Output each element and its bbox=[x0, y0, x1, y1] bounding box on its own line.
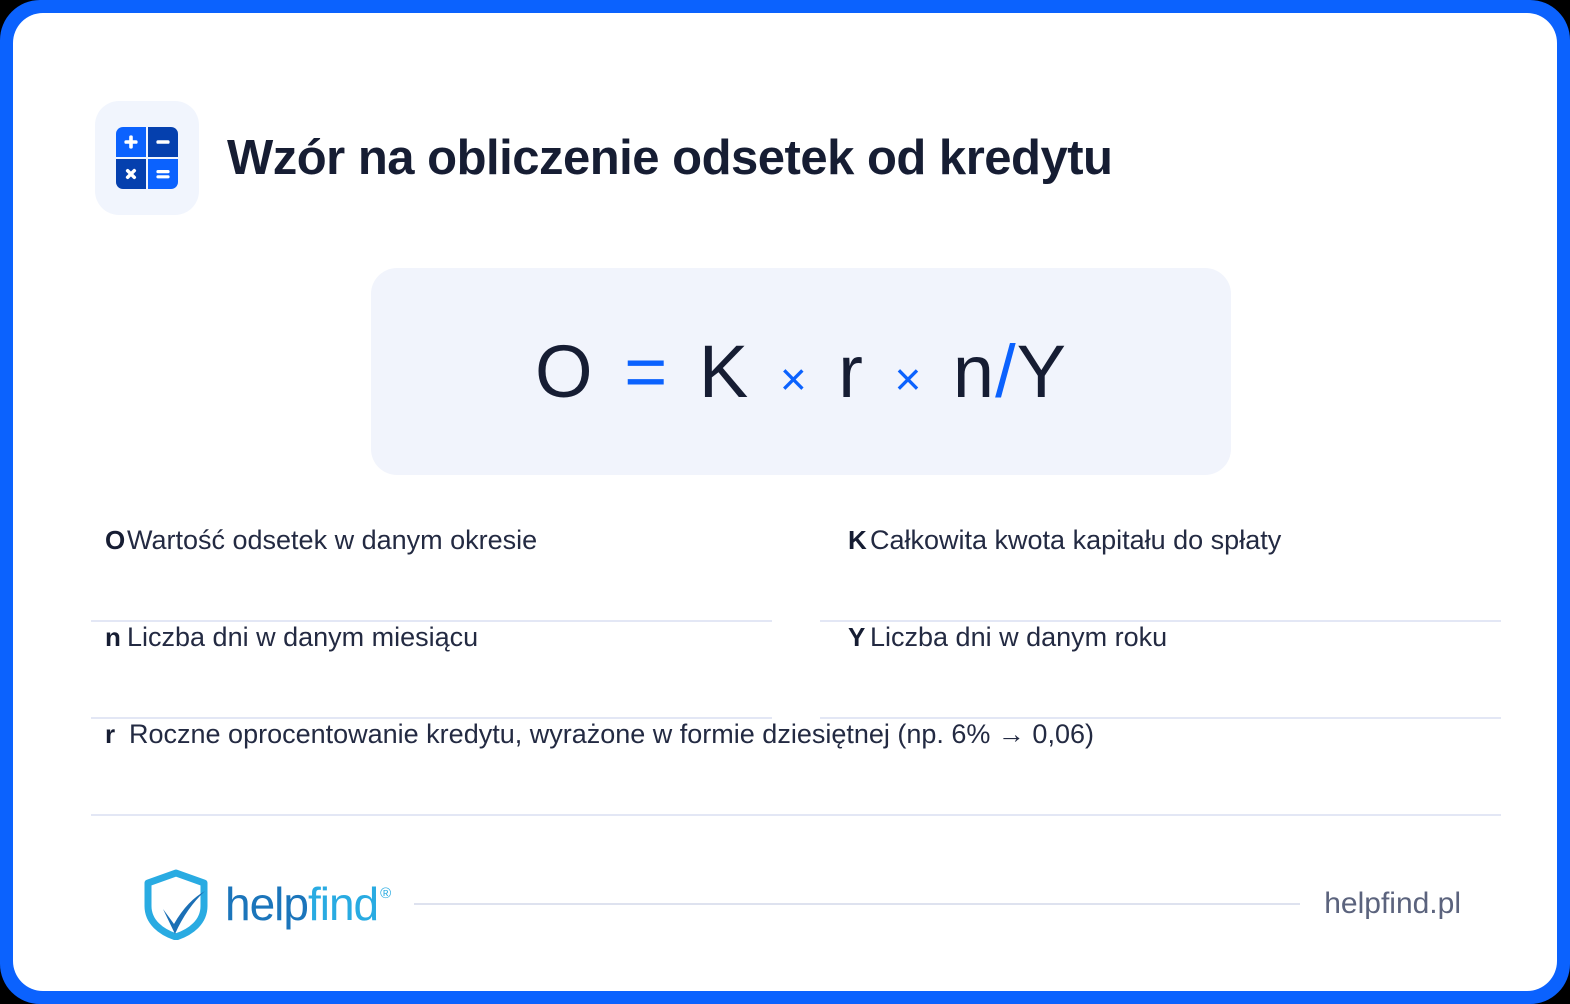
legend-symbol: Y bbox=[820, 622, 870, 653]
page-title: Wzór na obliczenie odsetek od kredytu bbox=[227, 134, 1112, 183]
legend-symbol: r bbox=[91, 719, 127, 750]
website-url: helpfind.pl bbox=[1324, 887, 1461, 921]
legend-row-O: O Wartość odsetek w danym okresie bbox=[91, 525, 772, 622]
formula-operator-equals: = bbox=[624, 330, 668, 413]
formula-panel: O = K × r × n/Y bbox=[371, 268, 1231, 475]
legend-row-r: r Roczne oprocentowanie kredytu, wyrażon… bbox=[91, 719, 1501, 816]
formula-variable-n: n bbox=[953, 330, 995, 413]
legend-symbol: K bbox=[820, 525, 870, 556]
formula-variable-K: K bbox=[699, 330, 749, 413]
formula-operator-divide: / bbox=[995, 330, 1017, 413]
legend-row-n: n Liczba dni w danym miesiącu bbox=[91, 622, 772, 719]
legend-row-K: K Całkowita kwota kapitału do spłaty bbox=[820, 525, 1501, 622]
legend-description: Roczne oprocentowanie kredytu, wyrażone … bbox=[127, 719, 1094, 750]
legend-description: Całkowita kwota kapitału do spłaty bbox=[870, 525, 1281, 556]
calculator-equals-key bbox=[148, 159, 178, 189]
footer-divider bbox=[414, 903, 1300, 905]
formula-operator-times-2: × bbox=[894, 353, 922, 405]
legend-symbol: O bbox=[91, 525, 127, 556]
content-card: Wzór na obliczenie odsetek od kredytu O … bbox=[13, 13, 1557, 991]
helpfind-wordmark: helpfind® bbox=[225, 881, 390, 927]
calculator-icon-badge bbox=[95, 101, 199, 215]
calculator-minus-key bbox=[148, 127, 178, 157]
brand-help: help bbox=[225, 878, 308, 930]
legend-description: Wartość odsetek w danym okresie bbox=[127, 525, 537, 556]
formula-variable-Y: Y bbox=[1017, 330, 1067, 413]
legend-table: O Wartość odsetek w danym okresie K Całk… bbox=[91, 525, 1501, 816]
brand-find: find bbox=[308, 878, 378, 930]
calculator-multiply-key bbox=[116, 159, 146, 189]
formula-expression: O = K × r × n/Y bbox=[535, 335, 1067, 409]
shield-check-icon bbox=[141, 868, 211, 940]
footer: helpfind® helpfind.pl bbox=[141, 858, 1461, 950]
registered-mark: ® bbox=[380, 885, 390, 902]
formula-variable-O: O bbox=[535, 330, 594, 413]
legend-symbol: n bbox=[91, 622, 127, 653]
legend-row-Y: Y Liczba dni w danym roku bbox=[820, 622, 1501, 719]
calculator-icon bbox=[116, 127, 178, 189]
formula-operator-times-1: × bbox=[780, 353, 808, 405]
calculator-plus-key bbox=[116, 127, 146, 157]
legend-description: Liczba dni w danym miesiącu bbox=[127, 622, 478, 653]
formula-variable-r: r bbox=[838, 330, 864, 413]
helpfind-logo[interactable]: helpfind® bbox=[141, 868, 390, 940]
header: Wzór na obliczenie odsetek od kredytu bbox=[95, 101, 1112, 215]
legend-description: Liczba dni w danym roku bbox=[870, 622, 1167, 653]
outer-blue-frame: Wzór na obliczenie odsetek od kredytu O … bbox=[0, 0, 1570, 1004]
